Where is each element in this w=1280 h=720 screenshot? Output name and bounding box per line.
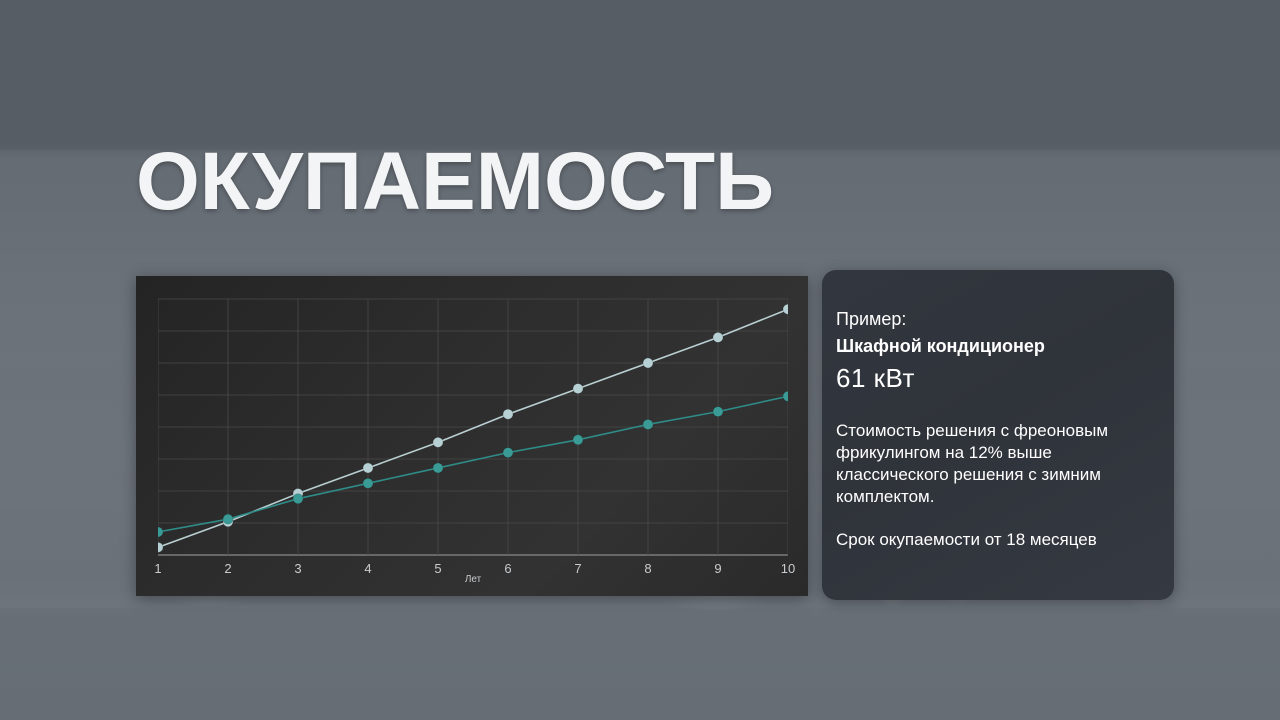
- x-tick-label: 1: [154, 561, 161, 576]
- data-point: [503, 409, 513, 419]
- data-point: [573, 384, 583, 394]
- data-point: [363, 478, 373, 488]
- x-tick-label: 9: [714, 561, 721, 576]
- data-point: [433, 463, 443, 473]
- chart-plot-area: [158, 291, 788, 559]
- x-tick-label: 2: [224, 561, 231, 576]
- data-point: [783, 304, 788, 314]
- x-tick-label: 3: [294, 561, 301, 576]
- info-product-name: Шкафной кондиционер: [836, 335, 1152, 358]
- x-tick-label: 4: [364, 561, 371, 576]
- slide-root: ОКУПАЕМОСТЬ 12345678910Лет Пример: Шкафн…: [0, 0, 1280, 720]
- x-tick-label: 6: [504, 561, 511, 576]
- data-point: [643, 419, 653, 429]
- info-description: Стоимость решения с фреоновым фрикулинго…: [836, 420, 1152, 508]
- data-point: [713, 407, 723, 417]
- series-lines: [158, 309, 788, 547]
- x-axis-title: Лет: [465, 574, 481, 585]
- x-tick-label: 5: [434, 561, 441, 576]
- page-title: ОКУПАЕМОСТЬ: [136, 141, 774, 223]
- data-point: [503, 448, 513, 458]
- x-axis: 12345678910Лет: [158, 561, 788, 591]
- x-tick-label: 7: [574, 561, 581, 576]
- line-chart-svg: [158, 291, 788, 559]
- data-point: [158, 527, 163, 537]
- data-point: [783, 391, 788, 401]
- data-point: [293, 494, 303, 504]
- info-power-value: 61 кВт: [836, 362, 1152, 396]
- data-point: [433, 437, 443, 447]
- info-payback: Срок окупаемости от 18 месяцев: [836, 530, 1152, 550]
- x-tick-label: 10: [781, 561, 795, 576]
- x-tick-label: 8: [644, 561, 651, 576]
- data-point: [643, 358, 653, 368]
- info-example-label: Пример:: [836, 308, 1152, 331]
- data-point: [363, 463, 373, 473]
- data-point: [158, 542, 163, 552]
- data-point: [573, 435, 583, 445]
- data-point: [223, 514, 233, 524]
- info-panel: Пример: Шкафной кондиционер 61 кВт Стоим…: [822, 270, 1174, 600]
- data-point: [713, 332, 723, 342]
- series-line-1: [158, 396, 788, 532]
- chart-panel: 12345678910Лет: [136, 276, 808, 596]
- grid-lines: [158, 299, 788, 555]
